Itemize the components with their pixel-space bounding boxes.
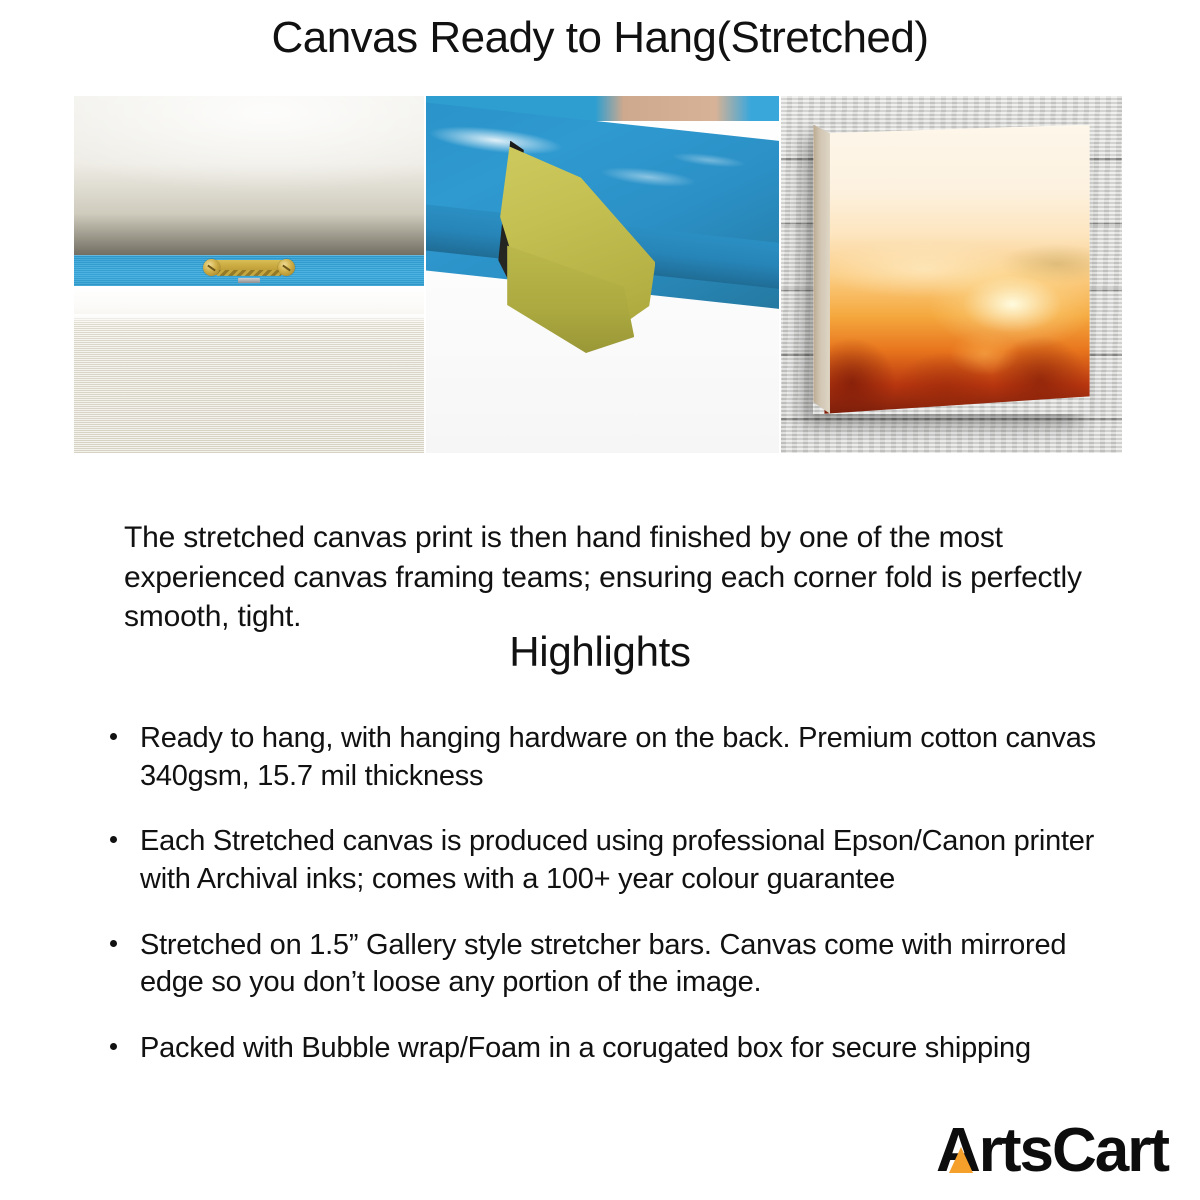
intro-paragraph: The stretched canvas print is then hand … bbox=[124, 518, 1084, 637]
logo-triangle-icon bbox=[949, 1147, 973, 1173]
bullet-dot-icon bbox=[110, 836, 117, 843]
list-item: Ready to hang, with hanging hardware on … bbox=[104, 720, 1104, 795]
hanger-screw-left bbox=[203, 259, 220, 276]
photo-canvas-back-with-sawtooth-hanger bbox=[74, 96, 424, 453]
bullet-dot-icon bbox=[110, 940, 117, 947]
photo-canvas-corner-fold-detail bbox=[426, 96, 779, 453]
artscart-logo: ArtsCart bbox=[936, 1120, 1168, 1182]
photo-canvas-hanging-on-wood-wall bbox=[781, 96, 1122, 453]
highlights-heading: Highlights bbox=[0, 628, 1200, 676]
canvas-back-upper-surface bbox=[74, 96, 424, 264]
hanger-teeth bbox=[217, 270, 281, 276]
canvas-side-depth bbox=[813, 125, 830, 414]
hanging-canvas bbox=[813, 125, 1089, 414]
list-item: Each Stretched canvas is produced using … bbox=[104, 823, 1104, 898]
page-title: Canvas Ready to Hang(Stretched) bbox=[0, 0, 1200, 62]
bullet-dot-icon bbox=[110, 733, 117, 740]
list-item-label: Ready to hang, with hanging hardware on … bbox=[140, 722, 1096, 792]
list-item-label: Each Stretched canvas is produced using … bbox=[140, 825, 1094, 895]
list-item: Stretched on 1.5” Gallery style stretche… bbox=[104, 927, 1104, 1002]
hanger-screw-right bbox=[278, 259, 295, 276]
list-item-label: Stretched on 1.5” Gallery style stretche… bbox=[140, 929, 1066, 999]
bullet-dot-icon bbox=[110, 1043, 117, 1050]
highlights-list: Ready to hang, with hanging hardware on … bbox=[104, 720, 1104, 1096]
hanger-clip bbox=[238, 278, 260, 283]
canvas-sunset-landscape-print bbox=[813, 125, 1089, 414]
canvas-cotton-face bbox=[74, 317, 424, 453]
list-item: Packed with Bubble wrap/Foam in a coruga… bbox=[104, 1030, 1104, 1068]
list-item-label: Packed with Bubble wrap/Foam in a coruga… bbox=[140, 1032, 1031, 1064]
sawtooth-hanger-icon bbox=[203, 258, 295, 279]
logo-wordmark: ArtsCart bbox=[936, 1120, 1168, 1182]
product-photo-strip bbox=[74, 96, 1124, 453]
